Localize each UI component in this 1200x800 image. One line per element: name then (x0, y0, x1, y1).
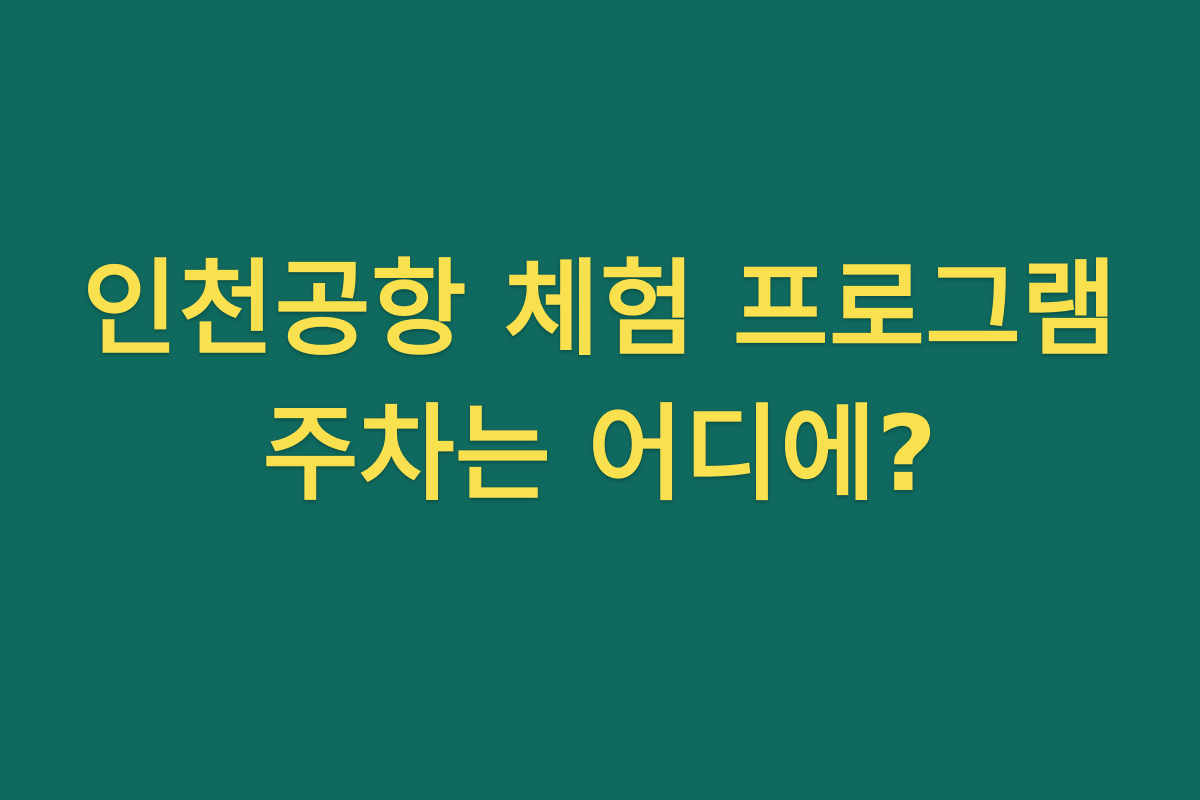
headline-line-1: 인천공항 체험 프로그램 (0, 237, 1200, 382)
poster-canvas: 인천공항 체험 프로그램 주차는 어디에? (0, 0, 1200, 800)
headline-line-2: 주차는 어디에? (0, 382, 1200, 527)
headline-text-block: 인천공항 체험 프로그램 주차는 어디에? (0, 237, 1200, 527)
